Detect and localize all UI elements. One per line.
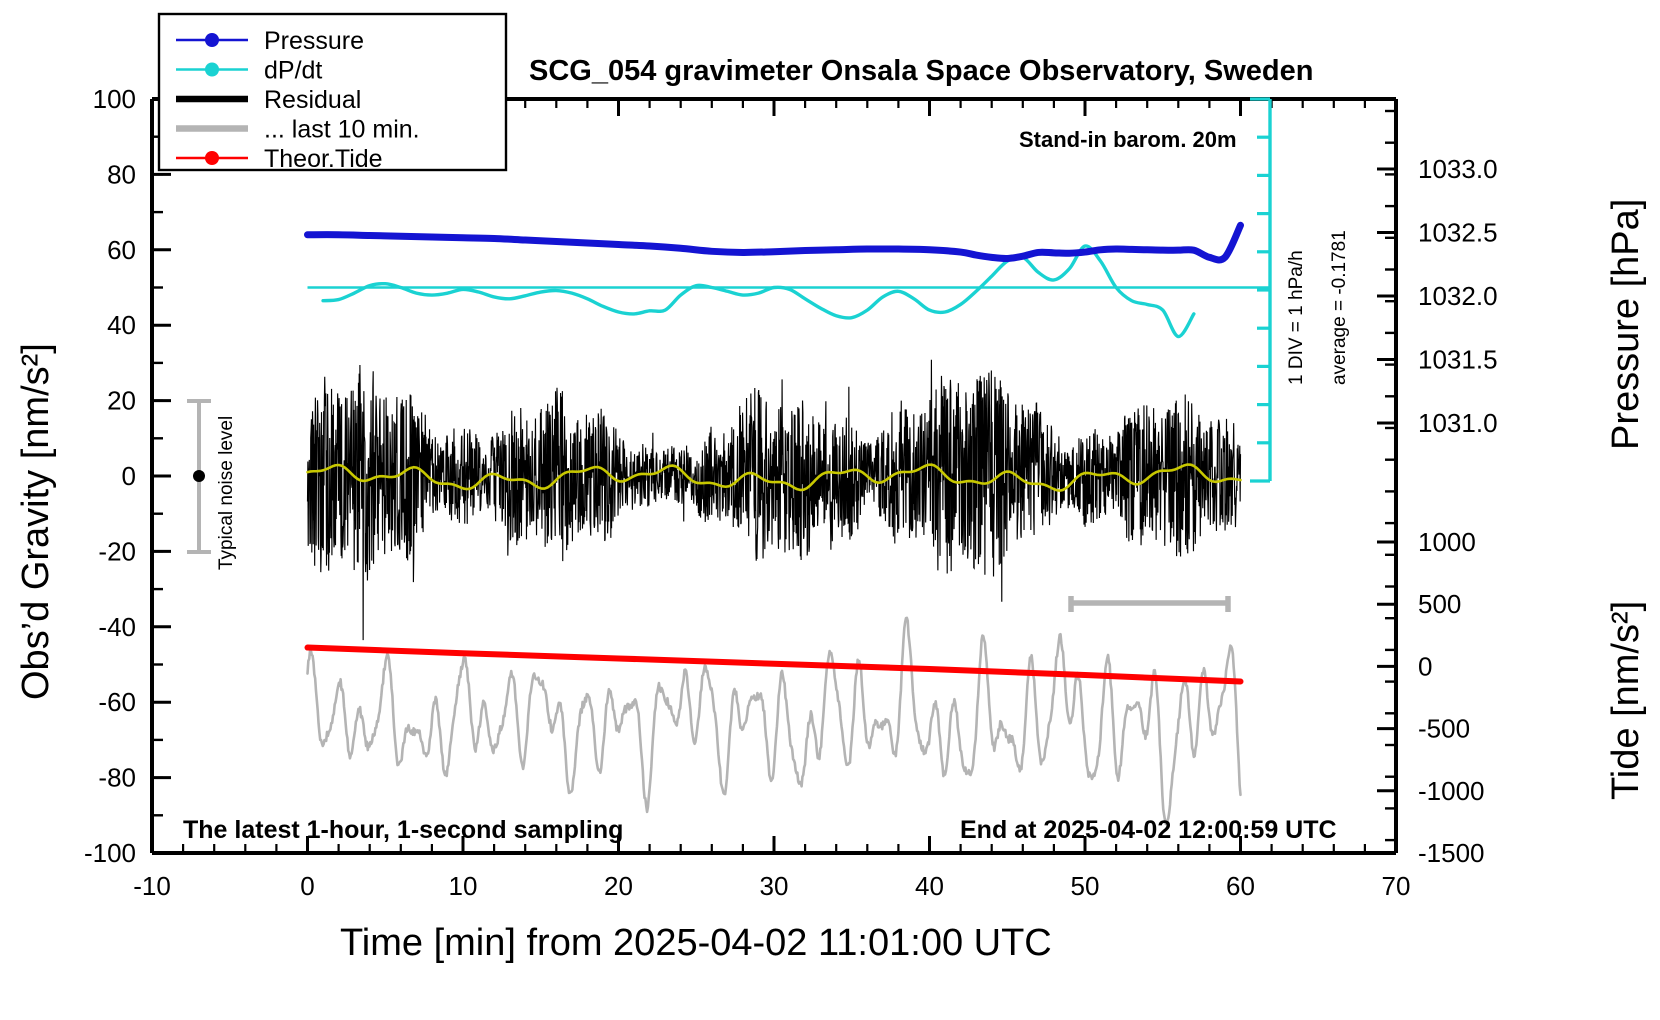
y-right-tide-tick-label: 500 — [1418, 589, 1461, 619]
y-left-tick-label: 80 — [107, 159, 136, 189]
y-right-tide-tick-label: 0 — [1418, 651, 1432, 681]
typical-noise-level-label: Typical noise level — [216, 416, 237, 570]
y-right-pressure-tick-label: 1032.0 — [1418, 281, 1498, 311]
legend-label: Pressure — [264, 27, 364, 55]
y-left-axis-title: Obs’d Gravity [nm/s²] — [15, 343, 57, 700]
x-tick-label: 60 — [1226, 871, 1255, 901]
bottom-left-note: The latest 1-hour, 1-second sampling — [183, 816, 623, 844]
x-tick-label: -10 — [133, 871, 171, 901]
x-tick-label: 20 — [604, 871, 633, 901]
legend-label: Residual — [264, 86, 361, 114]
legend-label: Theor.Tide — [264, 145, 383, 173]
dpdt-average-label: average = -0.1781 — [1329, 230, 1350, 385]
legend-label: dP/dt — [264, 57, 322, 85]
y-right-tide-tick-label: -1500 — [1418, 838, 1485, 868]
x-tick-label: 0 — [300, 871, 314, 901]
x-tick-label: 70 — [1382, 871, 1411, 901]
gravimeter-chart: -10010203040506070 100806040200-20-40-60… — [0, 0, 1660, 1020]
y-right-pressure-tick-label: 1031.0 — [1418, 408, 1498, 438]
y-left-tick-label: -40 — [98, 612, 136, 642]
y-left-tick-label: -100 — [84, 838, 136, 868]
stand-in-barom-label: Stand-in barom. 20m — [1019, 127, 1237, 152]
y-right-tide-tick-label: 1000 — [1418, 527, 1476, 557]
x-tick-label: 50 — [1071, 871, 1100, 901]
chart-root: -10010203040506070 100806040200-20-40-60… — [0, 0, 1660, 1020]
y-left-tick-label: 0 — [122, 461, 136, 491]
legend-marker-dot — [205, 151, 219, 165]
legend-label: ... last 10 min. — [264, 116, 420, 144]
y-left-tick-label: 60 — [107, 235, 136, 265]
x-tick-label: 10 — [449, 871, 478, 901]
y-left-tick-label: 100 — [93, 84, 136, 114]
y-right-pressure-tick-label: 1031.5 — [1418, 345, 1498, 375]
bottom-right-note: End at 2025-04-02 12:00:59 UTC — [960, 816, 1337, 844]
y-right-pressure-tick-label: 1032.5 — [1418, 218, 1498, 248]
x-tick-label: 40 — [915, 871, 944, 901]
y-left-tick-label: -20 — [98, 536, 136, 566]
y-right-tide-tick-label: -500 — [1418, 714, 1470, 744]
x-tick-label: 30 — [760, 871, 789, 901]
dpdt-div-label: 1 DIV = 1 hPa/h — [1286, 250, 1307, 385]
y-right-pressure-tick-label: 1033.0 — [1418, 154, 1498, 184]
y-right-pressure-axis-title: Pressure [hPa] — [1605, 199, 1647, 450]
legend: PressuredP/dtResidual... last 10 min.The… — [159, 14, 506, 173]
y-right-tide-axis-title: Tide [nm/s²] — [1605, 601, 1647, 800]
legend-marker-dot — [205, 33, 219, 47]
y-left-tick-label: -60 — [98, 687, 136, 717]
y-left-tick-label: -80 — [98, 763, 136, 793]
y-left-tick-label: 40 — [107, 310, 136, 340]
y-right-tide-tick-label: -1000 — [1418, 776, 1485, 806]
legend-marker-dot — [205, 63, 219, 77]
y-left-tick-label: 20 — [107, 386, 136, 416]
chart-title: SCG_054 gravimeter Onsala Space Observat… — [529, 55, 1313, 87]
x-axis-title: Time [min] from 2025-04-02 11:01:00 UTC — [340, 922, 1052, 964]
